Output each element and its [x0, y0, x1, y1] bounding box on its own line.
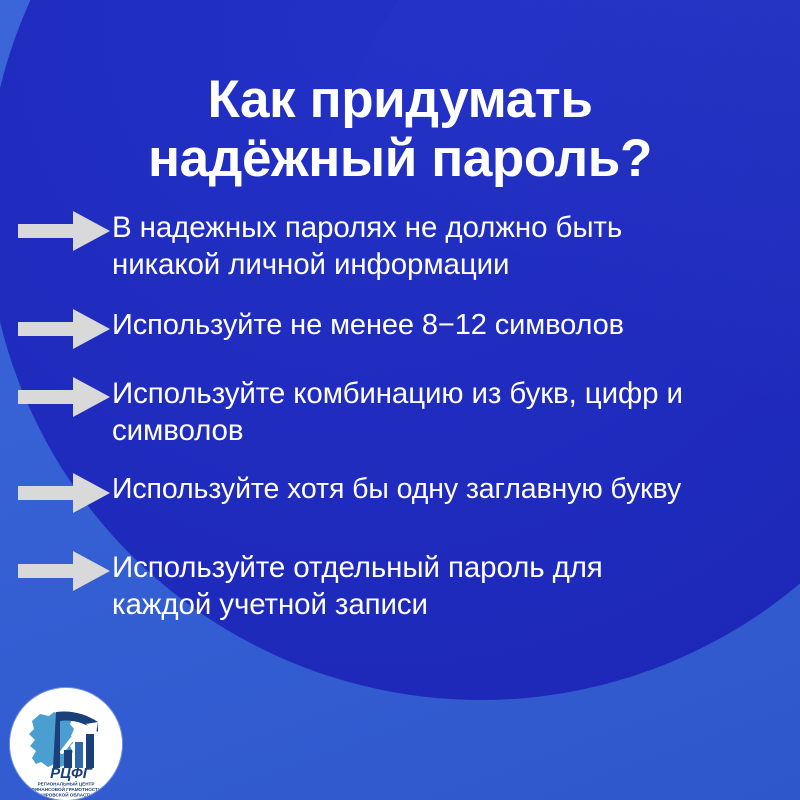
- infographic-poster: Как придумать надёжный пароль? В надежны…: [0, 0, 800, 800]
- list-item-text: Используйте хотя бы одну заглавную букву: [112, 471, 800, 507]
- list-item-line: символов: [112, 412, 784, 449]
- list-item-text: Используйте не менее 8−12 символов: [112, 307, 800, 344]
- list-item-line: Используйте комбинацию из букв, цифр и: [112, 375, 784, 412]
- list-item: Используйте не менее 8−12 символов: [0, 306, 800, 352]
- arrow-right-icon: [16, 306, 112, 352]
- logo-caption-line-3: КИРОВСКОЙ ОБЛАСТИ: [40, 791, 93, 798]
- logo-abbreviation: РЦФГ: [50, 765, 93, 782]
- list-item: Используйте отдельный пароль для каждой …: [0, 548, 800, 624]
- list-item-line: никакой личной информации: [112, 246, 784, 283]
- list-item-line: В надежных паролях не должно быть: [112, 209, 784, 246]
- list-item-text: Используйте комбинацию из букв, цифр и с…: [112, 375, 800, 450]
- list-item-line: Используйте не менее 8−12 символов: [112, 307, 784, 344]
- arrow-right-icon: [16, 470, 112, 516]
- organization-logo: РЦФГ РЕГИОНАЛЬНЫЙ ЦЕНТР ФИНАНСОВОЙ ГРАМО…: [10, 688, 122, 800]
- title-line-1: Как придумать: [48, 70, 752, 129]
- title-line-2: надёжный пароль?: [48, 129, 752, 188]
- logo-caption-line-1: РЕГИОНАЛЬНЫЙ ЦЕНТР: [38, 780, 95, 787]
- list-item-line: Используйте хотя бы одну заглавную букву: [112, 471, 784, 507]
- list-item: Используйте комбинацию из букв, цифр и с…: [0, 374, 800, 450]
- list-item-text: Используйте отдельный пароль для каждой …: [112, 549, 800, 624]
- tips-list: В надежных паролях не должно быть никако…: [0, 208, 800, 624]
- list-item-line: Используйте отдельный пароль для: [112, 549, 784, 586]
- logo-caption-line-2: ФИНАНСОВОЙ ГРАМОТНОСТИ: [31, 785, 101, 792]
- page-title: Как придумать надёжный пароль?: [0, 70, 800, 189]
- list-item-text: В надежных паролях не должно быть никако…: [112, 209, 800, 284]
- list-item: В надежных паролях не должно быть никако…: [0, 208, 800, 284]
- arrow-right-icon: [16, 374, 112, 420]
- list-item-line: каждой учетной записи: [112, 586, 784, 623]
- arrow-right-icon: [16, 208, 112, 254]
- list-item: Используйте хотя бы одну заглавную букву: [0, 470, 800, 516]
- arrow-right-icon: [16, 548, 112, 594]
